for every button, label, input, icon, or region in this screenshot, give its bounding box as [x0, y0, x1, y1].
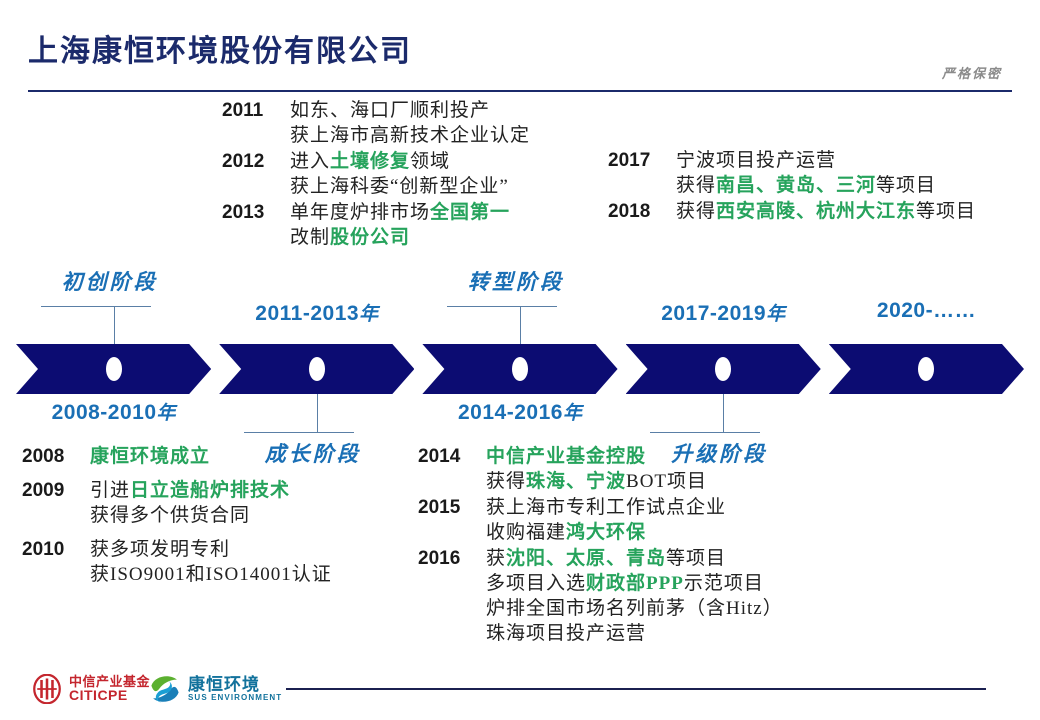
event-text-highlight: 财政部PPP	[586, 573, 684, 594]
event-line-group: 如东、海口厂顺利投产获上海市高新技术企业认定	[290, 98, 530, 148]
event-line-group: 宁波项目投产运营获得南昌、黄岛、三河等项目	[676, 148, 936, 198]
event-text: 获多项发明专利	[90, 539, 230, 560]
event-text: 领域	[410, 151, 450, 172]
header-divider	[28, 90, 1012, 92]
event-text: 单年度炉排市场	[290, 202, 430, 223]
event-text-highlight: 土壤修复	[330, 151, 410, 172]
event-line-group: 获沈阳、太原、青岛等项目多项目入选财政部PPP示范项目炉排全国市场名列前茅（含H…	[486, 546, 783, 646]
event-line: 进入土壤修复领域	[290, 149, 509, 174]
event-row: 2015获上海市专利工作试点企业收购福建鸿大环保	[418, 495, 783, 545]
event-text: 宁波项目投产运营	[676, 150, 836, 171]
event-text: 获	[486, 548, 506, 569]
event-year: 2008	[22, 444, 76, 469]
event-text: 等项目	[666, 548, 726, 569]
timeline-period-4: 2017-2019年	[661, 299, 785, 326]
event-year: 2014	[418, 444, 472, 469]
period-suffix: 年	[766, 304, 786, 325]
events-2011-2013: 2011如东、海口厂顺利投产获上海市高新技术企业认定2012进入土壤修复领域获上…	[222, 98, 530, 251]
event-row: 2008康恒环境成立	[22, 444, 332, 469]
event-line: 获多项发明专利	[90, 537, 332, 562]
event-line: 获得珠海、宁波BOT项目	[486, 469, 707, 494]
timeline-stage-1: 初创阶段	[62, 266, 158, 296]
timeline-marker-dot	[106, 357, 122, 381]
period-text: 2020-……	[877, 299, 976, 322]
event-row: 2017宁波项目投产运营获得南昌、黄岛、三河等项目	[608, 148, 976, 198]
footer-divider	[286, 688, 986, 690]
timeline-segment-2[interactable]	[219, 344, 414, 394]
event-text: 获上海市专利工作试点企业	[486, 497, 726, 518]
event-line: 获ISO9001和ISO14001认证	[90, 562, 332, 587]
event-text: 示范项目	[684, 573, 764, 594]
timeline-arrow-band	[0, 344, 1040, 394]
timeline-connector-vertical	[317, 394, 318, 432]
event-text: 引进	[90, 480, 130, 501]
event-text-highlight: 沈阳、太原、青岛	[506, 548, 666, 569]
sus-wordmark: 康恒环境 SUS ENVIRONMENT	[188, 676, 282, 702]
period-suffix: 年	[157, 403, 177, 424]
event-row: 2016获沈阳、太原、青岛等项目多项目入选财政部PPP示范项目炉排全国市场名列前…	[418, 546, 783, 646]
events-2017-2018: 2017宁波项目投产运营获得南昌、黄岛、三河等项目2018获得西安高陵、杭州大江…	[608, 148, 976, 225]
timeline-marker-dot	[918, 357, 934, 381]
event-text: 炉排全国市场名列前茅（含Hitz）	[486, 598, 783, 619]
timeline-stage-3: 转型阶段	[468, 266, 564, 296]
period-text: 2017-2019	[661, 302, 766, 325]
event-text: 如东、海口厂顺利投产	[290, 100, 490, 121]
event-text: 进入	[290, 151, 330, 172]
event-year: 2013	[222, 200, 276, 225]
sus-swirl-icon	[148, 672, 182, 706]
citicpe-name-cn: 中信产业基金	[69, 675, 150, 689]
event-line: 获得多个供货合同	[90, 503, 290, 528]
event-row: 2013单年度炉排市场全国第一改制股份公司	[222, 200, 530, 250]
sus-environment-logo: 康恒环境 SUS ENVIRONMENT	[148, 672, 282, 706]
period-suffix: 年	[563, 403, 583, 424]
event-row: 2018获得西安高陵、杭州大江东等项目	[608, 199, 976, 224]
event-line: 获得西安高陵、杭州大江东等项目	[676, 199, 976, 224]
event-line-group: 获上海市专利工作试点企业收购福建鸿大环保	[486, 495, 726, 545]
timeline-segment-5[interactable]	[829, 344, 1024, 394]
event-year: 2009	[22, 478, 76, 503]
timeline-segment-1[interactable]	[16, 344, 211, 394]
sus-name-en: SUS ENVIRONMENT	[188, 694, 282, 702]
event-year: 2015	[418, 495, 472, 520]
timeline-marker-dot	[715, 357, 731, 381]
event-line: 获沈阳、太原、青岛等项目	[486, 546, 783, 571]
event-line-group: 康恒环境成立	[90, 444, 210, 469]
timeline-connector-horizontal	[650, 432, 760, 433]
timeline-segment-4[interactable]	[626, 344, 821, 394]
event-year: 2011	[222, 98, 276, 123]
event-text: 珠海项目投产运营	[486, 623, 646, 644]
citicpe-logo: 中信产业基金 CITICPE	[32, 674, 150, 704]
event-line-group: 中信产业基金控股获得珠海、宁波BOT项目	[486, 444, 707, 494]
timeline-connector-horizontal	[244, 432, 354, 433]
timeline-connector-vertical	[114, 306, 115, 344]
event-text: BOT项目	[626, 471, 707, 492]
period-text: 2014-2016	[458, 401, 563, 424]
events-2008-2010: 2008康恒环境成立2009引进日立造船炉排技术获得多个供货合同2010获多项发…	[22, 444, 332, 596]
event-line: 多项目入选财政部PPP示范项目	[486, 571, 783, 596]
event-text: 获得多个供货合同	[90, 505, 250, 526]
event-text: 等项目	[876, 175, 936, 196]
timeline-segment-3[interactable]	[422, 344, 617, 394]
event-row: 2012进入土壤修复领域获上海科委“创新型企业”	[222, 149, 530, 199]
event-line: 收购福建鸿大环保	[486, 520, 726, 545]
timeline-period-5: 2020-……	[877, 299, 976, 323]
event-line: 引进日立造船炉排技术	[90, 478, 290, 503]
event-year: 2012	[222, 149, 276, 174]
period-text: 2008-2010	[52, 401, 157, 424]
event-row: 2010获多项发明专利获ISO9001和ISO14001认证	[22, 537, 332, 587]
event-line: 获上海市高新技术企业认定	[290, 123, 530, 148]
timeline-connector-vertical	[723, 394, 724, 432]
event-line-group: 单年度炉排市场全国第一改制股份公司	[290, 200, 510, 250]
event-line: 获上海科委“创新型企业”	[290, 174, 509, 199]
event-line-group: 进入土壤修复领域获上海科委“创新型企业”	[290, 149, 509, 199]
event-text: 获得	[676, 201, 716, 222]
event-line: 康恒环境成立	[90, 444, 210, 469]
footer: 中信产业基金 CITICPE 康恒环境 SUS ENVIRONMENT	[0, 656, 1040, 720]
event-text-highlight: 全国第一	[430, 202, 510, 223]
timeline-connector-horizontal	[41, 306, 151, 307]
sus-name-cn: 康恒环境	[188, 676, 282, 694]
citicpe-name-en: CITICPE	[69, 688, 150, 703]
timeline-period-3: 2014-2016年	[458, 398, 582, 425]
timeline-marker-dot	[512, 357, 528, 381]
period-text: 2011-2013	[255, 302, 359, 325]
slide-root: 上海康恒环境股份有限公司 严格保密 2011如东、海口厂顺利投产获上海市高新技术…	[0, 0, 1040, 720]
page-title: 上海康恒环境股份有限公司	[28, 26, 412, 70]
timeline-period-1: 2008-2010年	[52, 398, 176, 425]
event-line: 改制股份公司	[290, 225, 510, 250]
event-row: 2009引进日立造船炉排技术获得多个供货合同	[22, 478, 332, 528]
event-text: 获得	[486, 471, 526, 492]
event-text: 改制	[290, 227, 330, 248]
event-text-highlight: 珠海、宁波	[526, 471, 626, 492]
event-text-highlight: 康恒环境成立	[90, 446, 210, 467]
timeline-connector-vertical	[520, 306, 521, 344]
event-text: 获ISO9001和ISO14001认证	[90, 564, 332, 585]
timeline-connector-horizontal	[447, 306, 557, 307]
event-text: 等项目	[916, 201, 976, 222]
event-text: 多项目入选	[486, 573, 586, 594]
event-line: 获得南昌、黄岛、三河等项目	[676, 173, 936, 198]
event-row: 2014中信产业基金控股获得珠海、宁波BOT项目	[418, 444, 783, 494]
event-text-highlight: 中信产业基金控股	[486, 446, 646, 467]
period-suffix: 年	[359, 304, 379, 325]
events-2014-2016: 2014中信产业基金控股获得珠海、宁波BOT项目2015获上海市专利工作试点企业…	[418, 444, 783, 647]
event-text: 获上海科委“创新型企业”	[290, 176, 509, 197]
event-text-highlight: 日立造船炉排技术	[130, 480, 290, 501]
event-year: 2016	[418, 546, 472, 571]
confidential-marking: 严格保密	[942, 63, 1002, 82]
event-text: 获上海市高新技术企业认定	[290, 125, 530, 146]
citicpe-mark-icon	[32, 674, 62, 704]
timeline-period-2: 2011-2013年	[255, 299, 378, 326]
event-text-highlight: 西安高陵、杭州大江东	[716, 201, 916, 222]
event-row: 2011如东、海口厂顺利投产获上海市高新技术企业认定	[222, 98, 530, 148]
event-text-highlight: 南昌、黄岛、三河	[716, 175, 876, 196]
event-line: 获上海市专利工作试点企业	[486, 495, 726, 520]
event-line-group: 引进日立造船炉排技术获得多个供货合同	[90, 478, 290, 528]
event-line: 宁波项目投产运营	[676, 148, 936, 173]
event-line-group: 获得西安高陵、杭州大江东等项目	[676, 199, 976, 224]
event-year: 2018	[608, 199, 662, 224]
timeline-marker-dot	[309, 357, 325, 381]
event-line: 炉排全国市场名列前茅（含Hitz）	[486, 596, 783, 621]
event-year: 2010	[22, 537, 76, 562]
event-text-highlight: 股份公司	[330, 227, 410, 248]
event-text: 获得	[676, 175, 716, 196]
event-text-highlight: 鸿大环保	[566, 522, 646, 543]
citicpe-wordmark: 中信产业基金 CITICPE	[69, 675, 150, 703]
event-line-group: 获多项发明专利获ISO9001和ISO14001认证	[90, 537, 332, 587]
event-line: 如东、海口厂顺利投产	[290, 98, 530, 123]
event-line: 中信产业基金控股	[486, 444, 707, 469]
event-line: 单年度炉排市场全国第一	[290, 200, 510, 225]
event-line: 珠海项目投产运营	[486, 621, 783, 646]
event-year: 2017	[608, 148, 662, 173]
event-text: 收购福建	[486, 522, 566, 543]
